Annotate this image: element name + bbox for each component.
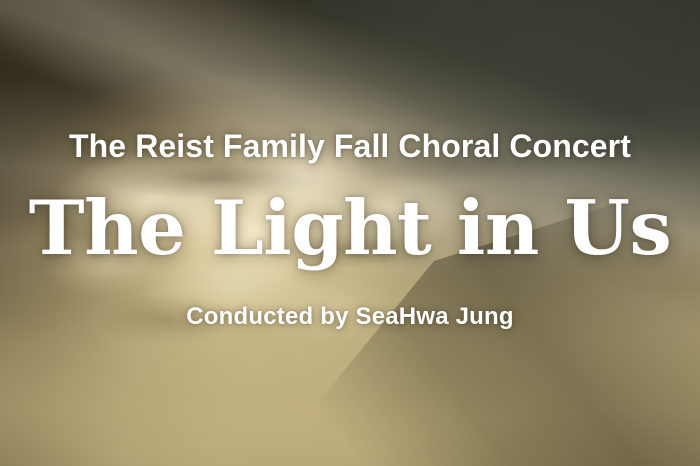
poster-text-block: The Reist Family Fall Choral Concert The… — [0, 0, 700, 466]
conductor-credit: Conducted by SeaHwa Jung — [0, 305, 700, 329]
concert-poster: The Reist Family Fall Choral Concert The… — [0, 0, 700, 466]
concert-title: The Light in Us — [0, 191, 700, 266]
concert-subtitle: The Reist Family Fall Choral Concert — [0, 130, 700, 162]
